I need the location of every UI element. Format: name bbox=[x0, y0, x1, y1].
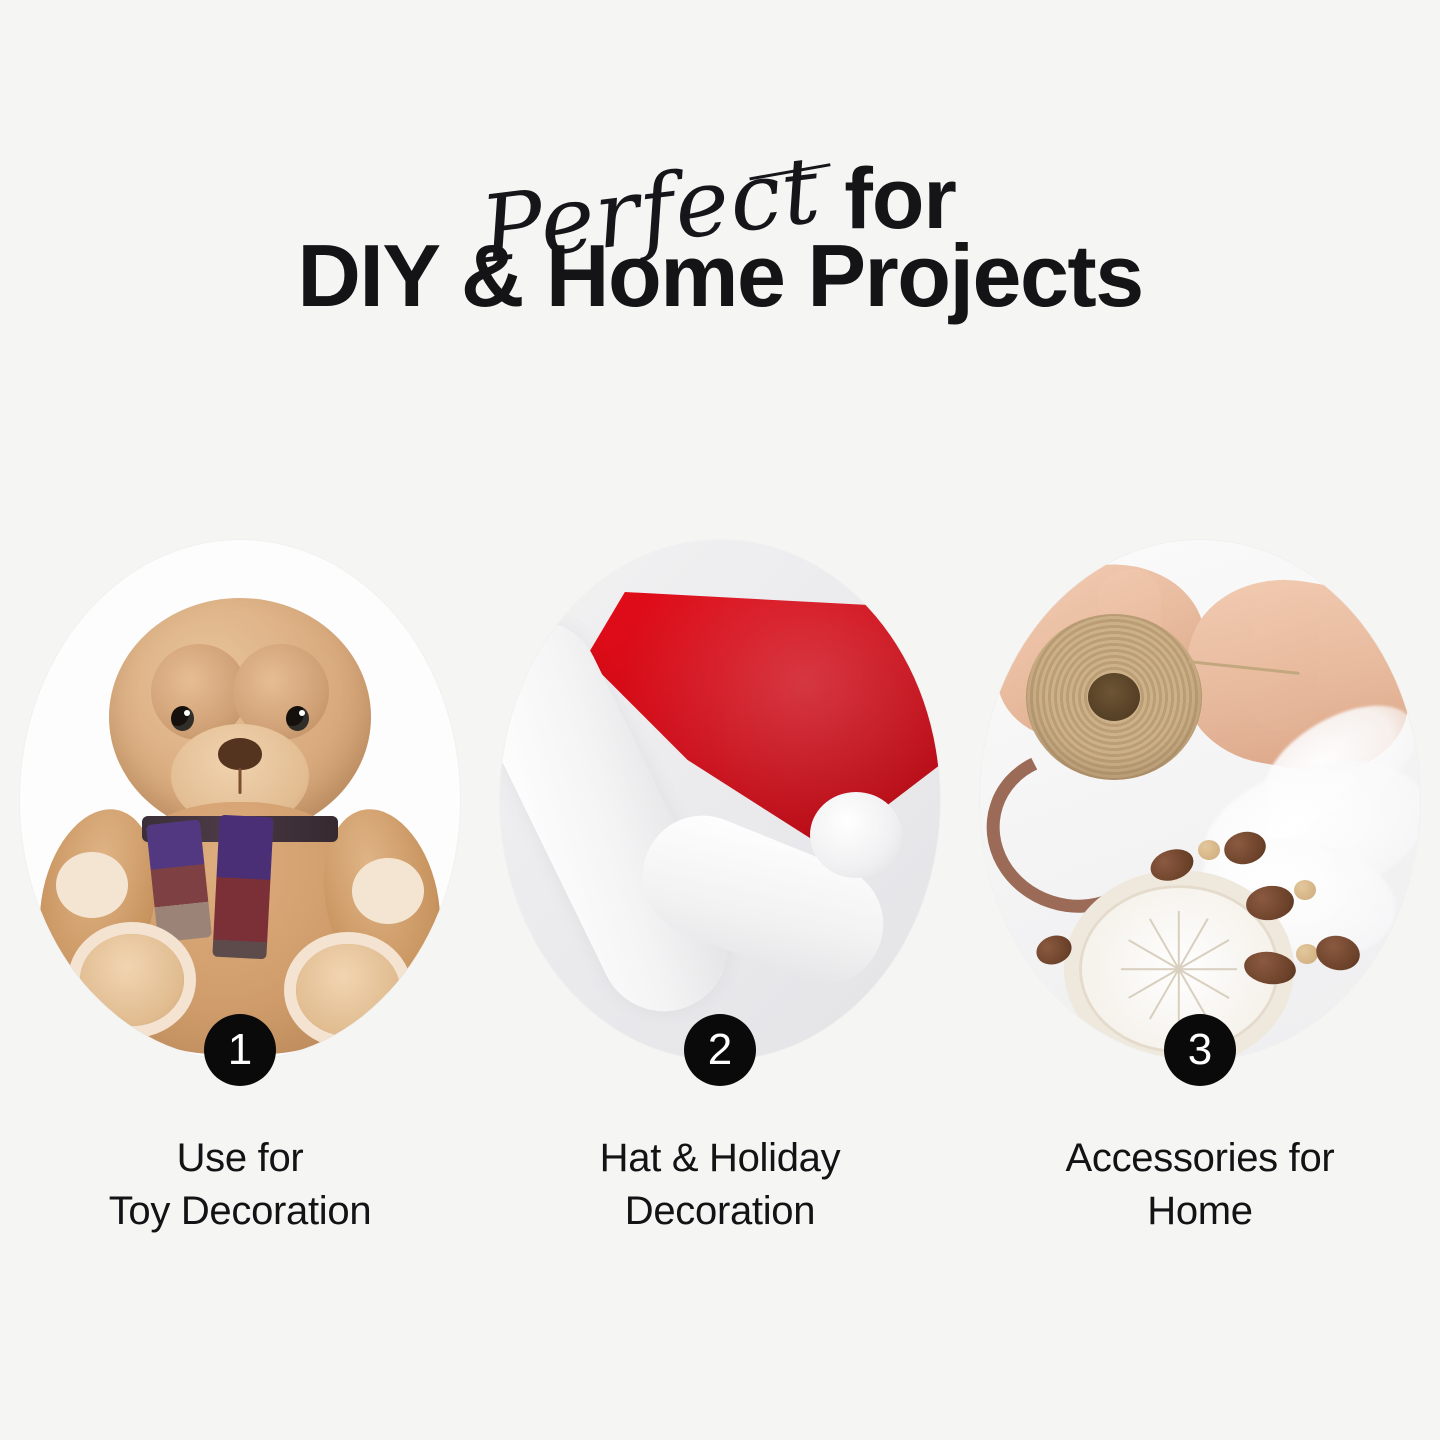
heading-line-one: Perfect for bbox=[0, 118, 1440, 238]
feature-caption-2: Hat & Holiday Decoration bbox=[600, 1132, 841, 1238]
photo-teddy-bear bbox=[20, 540, 460, 1060]
feature-card-2[interactable]: 2 Hat & Holiday Decoration bbox=[490, 540, 950, 1238]
step-badge-2: 2 bbox=[684, 1014, 756, 1086]
bear-hand-left bbox=[56, 852, 128, 918]
feature-cards-row: 1 Use for Toy Decoration 2 Hat & Holiday… bbox=[0, 540, 1440, 1260]
step-badge-1: 1 bbox=[204, 1014, 276, 1086]
feature-card-1[interactable]: 1 Use for Toy Decoration bbox=[10, 540, 470, 1238]
page-title: DIY & Home Projects bbox=[0, 232, 1440, 320]
dreamcatcher-illustration bbox=[980, 540, 1420, 1060]
bear-paw-right bbox=[296, 944, 400, 1036]
bear-head-shape bbox=[109, 598, 371, 836]
photo-wrap-3: 3 bbox=[980, 540, 1420, 1060]
photo-santa-hat bbox=[500, 540, 940, 1060]
wooden-bead bbox=[1198, 840, 1220, 860]
bear-eye-left bbox=[171, 706, 194, 731]
bear-eye-right bbox=[286, 706, 309, 731]
photo-wrap-1: 1 bbox=[20, 540, 460, 1060]
feature-card-3[interactable]: 3 Accessories for Home bbox=[970, 540, 1430, 1238]
santa-hat-illustration bbox=[500, 540, 940, 1060]
photo-dreamcatcher-craft bbox=[980, 540, 1420, 1060]
crafter-finger-right bbox=[1250, 590, 1321, 732]
santa-hat-pompom bbox=[810, 792, 902, 878]
bear-nose bbox=[218, 738, 262, 770]
teddy-bear-illustration bbox=[20, 540, 460, 1060]
feature-caption-1: Use for Toy Decoration bbox=[109, 1132, 372, 1238]
twine-spool-hole bbox=[1088, 673, 1140, 721]
feature-caption-3: Accessories for Home bbox=[1066, 1132, 1335, 1238]
step-badge-3: 3 bbox=[1164, 1014, 1236, 1086]
photo-wrap-2: 2 bbox=[500, 540, 940, 1060]
heading-block: Perfect for DIY & Home Projects bbox=[0, 0, 1440, 380]
bear-hand-right bbox=[352, 858, 424, 924]
wooden-bead bbox=[1294, 880, 1316, 900]
bear-paw-left bbox=[80, 934, 184, 1026]
bear-scarf-tail-right bbox=[212, 815, 273, 960]
wooden-bead bbox=[1296, 944, 1318, 964]
dreamcatcher-web bbox=[1114, 917, 1244, 1021]
